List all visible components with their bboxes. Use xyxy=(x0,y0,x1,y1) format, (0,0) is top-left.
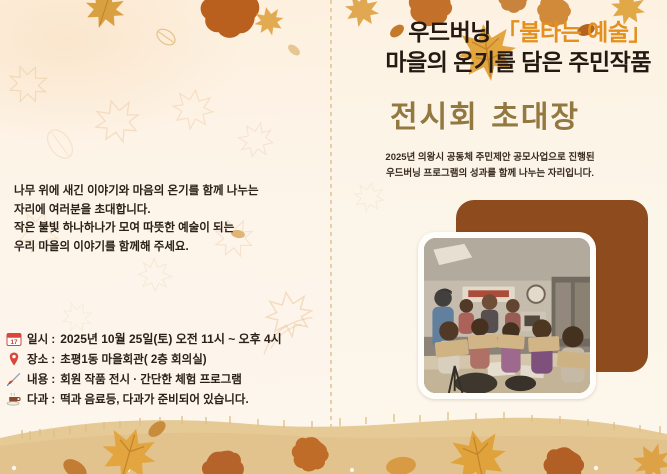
small-leaf-icon xyxy=(382,452,419,474)
detail-row-date: 17 일시 : 2025년 10월 25일(토) 오전 11시 ~ 오후 4시 xyxy=(6,330,326,347)
invitation-body: 나무 위에 새긴 이야기와 마음의 온기를 함께 나누는 자리에 여러분을 초대… xyxy=(14,182,319,257)
body-line-2: 자리에 여러분을 초대합니다. xyxy=(14,201,319,220)
calendar-icon: 17 xyxy=(6,331,22,347)
description-line-1: 2025년 의왕시 공동체 주민제안 공모사업으로 진행된 xyxy=(333,150,647,166)
detail-row-content: 내용 : 회원 작품 전시 · 간단한 체험 프로그램 xyxy=(6,370,326,387)
paintbrush-icon xyxy=(6,371,22,387)
body-line-4: 우리 마을의 이야기를 함께해 주세요. xyxy=(14,238,319,257)
invitation-poster: 우드버닝 「불타는 예술」 마을의 온기를 담은 주민작품 전시회 초대장 20… xyxy=(0,0,667,474)
event-photo: 우드버닝 체험 단체 사진 — 주민들이 나무 작품을 들고 있는 모습 xyxy=(424,238,590,393)
detail-row-refreshments: 다과 : 떡과 음료등, 다과가 준비되어 있습니다. xyxy=(6,390,326,407)
maple-leaf-icon xyxy=(249,1,289,41)
title-prefix: 우드버닝 xyxy=(408,19,491,45)
title-accent: 「불타는 예술」 xyxy=(497,19,651,45)
poster-title-line-1: 우드버닝 「불타는 예술」 xyxy=(333,18,651,47)
outline-leaf-icon xyxy=(167,83,219,135)
invitation-description: 2025년 의왕시 공동체 주민제안 공모사업으로 진행된 우드버닝 프로그램의… xyxy=(333,150,651,181)
detail-label-date: 일시 : xyxy=(27,331,55,347)
description-line-2: 우드버닝 프로그램의 성과를 함께 나누는 자리입니다. xyxy=(333,166,647,182)
poster-title-line-2: 마을의 온기를 담은 주민작품 xyxy=(333,48,651,77)
detail-value-date: 2025년 10월 25일(토) 오전 11시 ~ 오후 4시 xyxy=(60,330,282,347)
detail-value-content: 회원 작품 전시 · 간단한 체험 프로그램 xyxy=(60,371,242,387)
location-pin-icon xyxy=(6,351,22,367)
detail-label-place: 장소 : xyxy=(27,351,55,367)
detail-value-refreshments: 떡과 음료등, 다과가 준비되어 있습니다. xyxy=(60,391,248,407)
detail-value-place: 초평1동 마을회관( 2층 회의실) xyxy=(60,351,206,367)
body-line-1: 나무 위에 새긴 이야기와 마음의 온기를 함께 나누는 xyxy=(14,182,319,201)
photo-frame: 우드버닝 체험 단체 사진 — 주민들이 나무 작품을 들고 있는 모습 xyxy=(418,232,596,399)
fold-divider xyxy=(330,0,332,474)
title-block: 우드버닝 「불타는 예술」 마을의 온기를 담은 주민작품 전시회 초대장 20… xyxy=(333,18,651,181)
outline-leaf-icon xyxy=(349,177,389,217)
detail-row-place: 장소 : 초평1동 마을회관( 2층 회의실) xyxy=(6,350,326,367)
detail-label-content: 내용 : xyxy=(27,371,55,387)
tea-cup-icon xyxy=(6,391,22,407)
event-details-list: 17 일시 : 2025년 10월 25일(토) 오전 11시 ~ 오후 4시 … xyxy=(6,330,326,410)
photo-area: 우드버닝 체험 단체 사진 — 주민들이 나무 작품을 들고 있는 모습 xyxy=(418,200,648,405)
invitation-heading: 전시회 초대장 xyxy=(333,92,651,136)
calendar-day-number: 17 xyxy=(10,339,18,346)
body-line-3: 작은 불빛 하나하나가 모여 따뜻한 예술이 되는 xyxy=(14,219,319,238)
detail-label-refreshments: 다과 : xyxy=(27,391,55,407)
